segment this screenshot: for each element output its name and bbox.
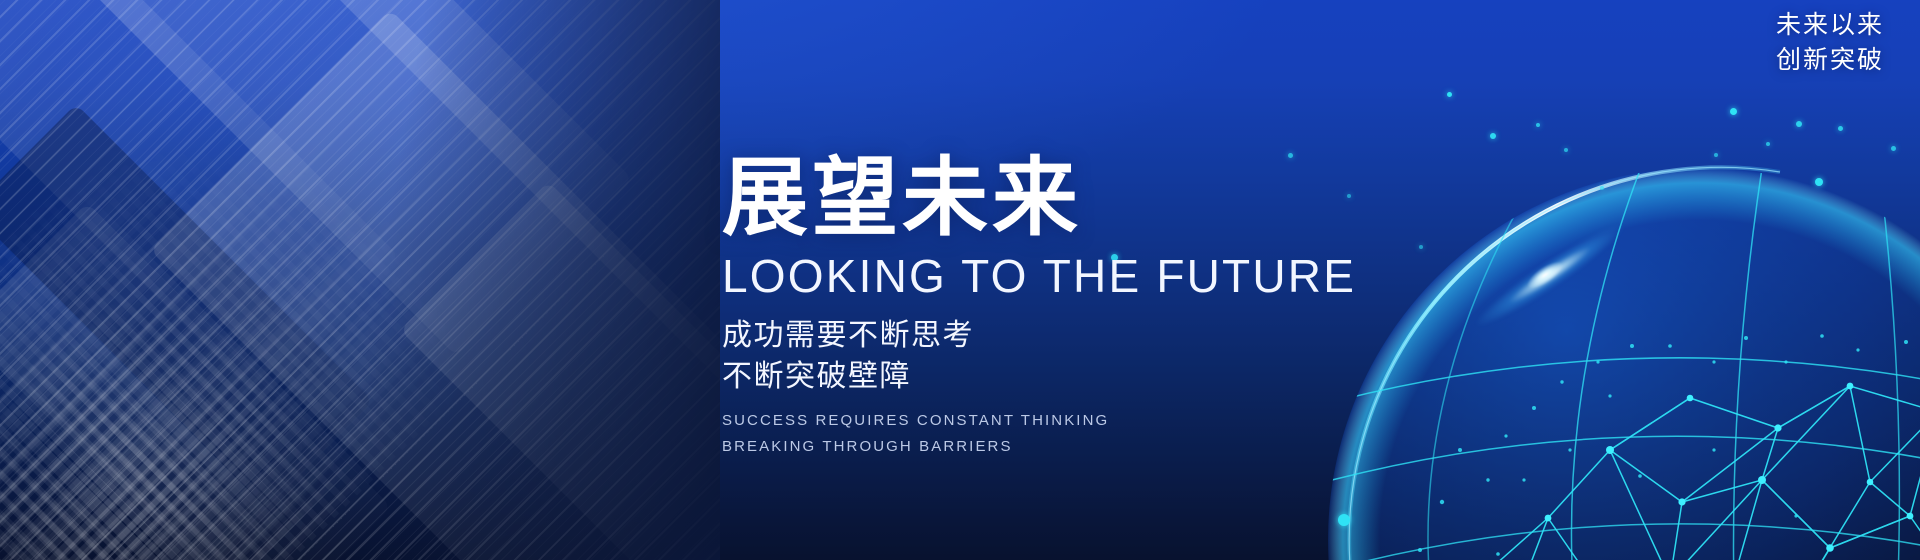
globe-light-flare (1468, 214, 1632, 336)
decor-vignette (0, 0, 720, 560)
particle-dot (1766, 142, 1770, 146)
hero-banner: 未来以来 创新突破 展望未来 LOOKING TO THE FUTURE 成功需… (0, 0, 1920, 560)
particle-dot (1536, 123, 1540, 127)
tagline-cn: 成功需要不断思考 不断突破壁障 (722, 316, 1422, 398)
decor-bar (60, 0, 633, 356)
particle-dot (1564, 148, 1568, 152)
decor-diagonal-lines (0, 0, 720, 560)
decor-halftone-grid (0, 11, 538, 560)
tagline-en: SUCCESS REQUIRES CONSTANT THINKING BREAK… (722, 408, 1422, 460)
decor-bar (150, 10, 720, 560)
tagline-en-line-1: SUCCESS REQUIRES CONSTANT THINKING (722, 408, 1422, 434)
decor-bar-dark (0, 104, 373, 507)
particle-dot (1891, 146, 1896, 151)
particle-dot (1730, 108, 1737, 115)
particle-dot (1796, 121, 1802, 127)
decor-bar (0, 0, 399, 398)
decor-bar (330, 0, 720, 443)
decor-bar (400, 182, 720, 560)
tagline-cn-line-1: 成功需要不断思考 (722, 316, 1422, 357)
particle-dot (1600, 186, 1604, 190)
headline-block: 展望未来 LOOKING TO THE FUTURE 成功需要不断思考 不断突破… (722, 152, 1422, 460)
tagline-en-line-2: BREAKING THROUGH BARRIERS (722, 434, 1422, 460)
corner-tagline-line-2: 创新突破 (1776, 43, 1884, 78)
particle-dot (1838, 126, 1843, 131)
left-geometric-artwork (0, 0, 720, 560)
page-subtitle-en: LOOKING TO THE FUTURE (722, 251, 1422, 303)
particle-dot (1815, 178, 1823, 186)
corner-tagline-line-1: 未来以来 (1776, 8, 1884, 43)
page-title: 展望未来 (722, 152, 1422, 245)
particle-dot (1338, 514, 1350, 526)
particle-dot (1490, 133, 1496, 139)
globe-light-flare-core (1523, 257, 1567, 294)
decor-bar (0, 203, 391, 560)
tagline-cn-line-2: 不断突破壁障 (722, 357, 1422, 398)
decor-halftone-grid-small (0, 198, 411, 560)
decor-diagonal-lines-fine (0, 0, 720, 560)
particle-dot (1447, 92, 1452, 97)
corner-tagline: 未来以来 创新突破 (1776, 8, 1884, 77)
particle-dot (1714, 153, 1718, 157)
